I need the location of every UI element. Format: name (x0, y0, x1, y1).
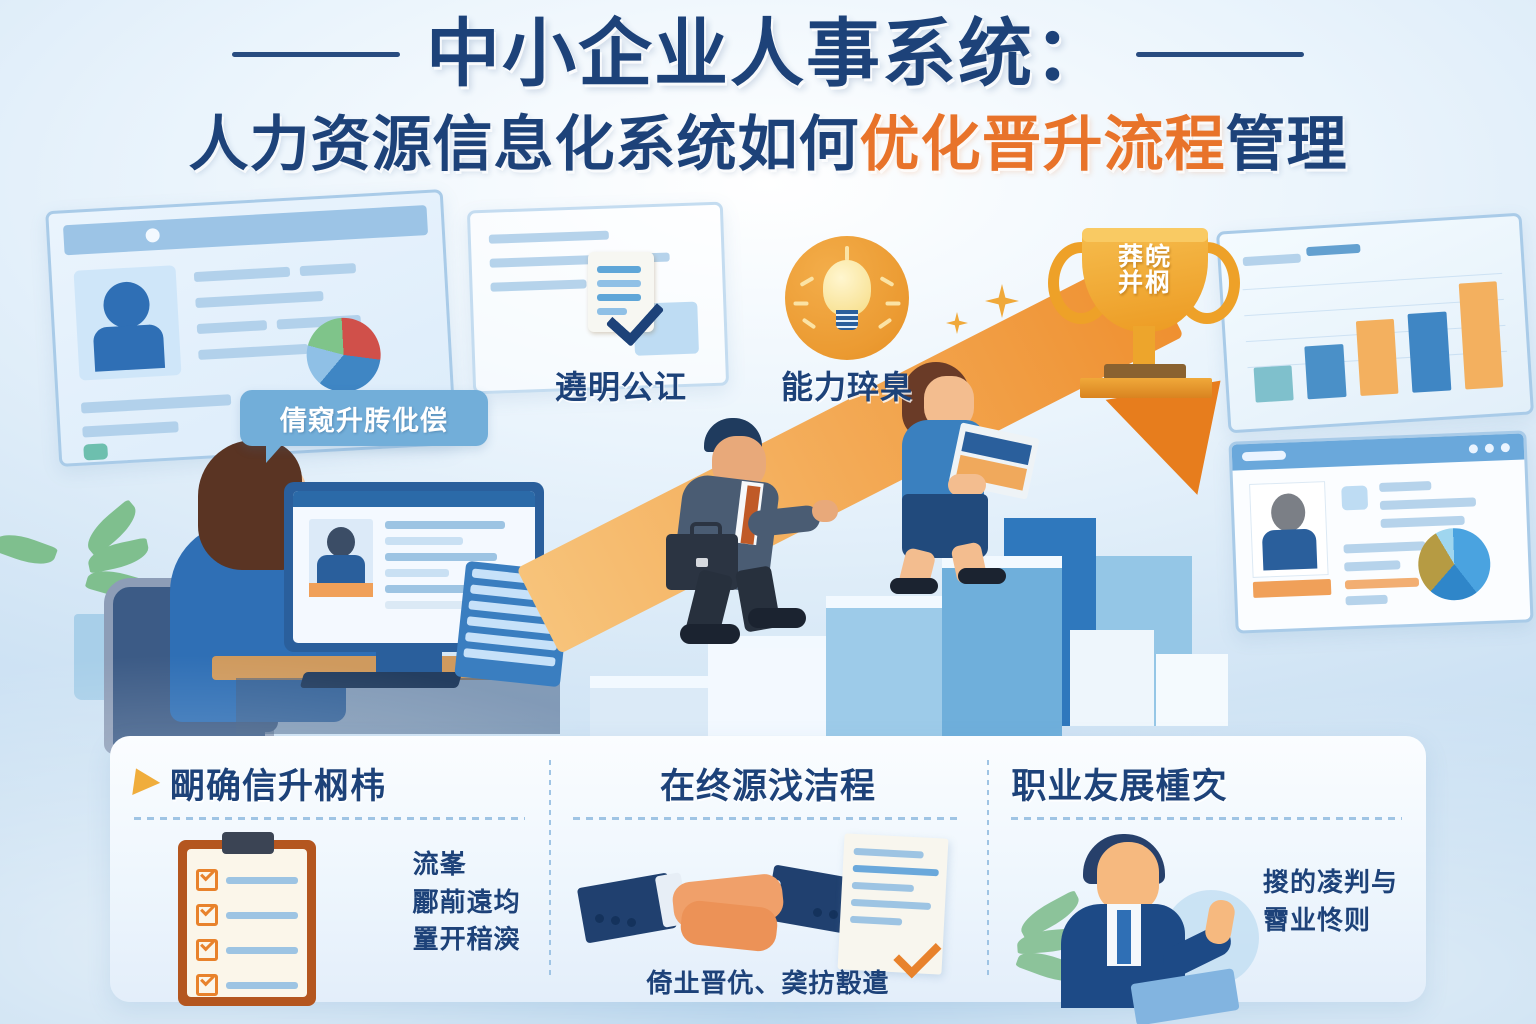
trophy-stem (1133, 326, 1155, 366)
checkbox-icon[interactable] (196, 974, 218, 996)
trophy-label-line1: 莽皖 (1098, 244, 1192, 270)
bar-2 (1305, 344, 1347, 399)
speech-bubble: 倩窥升䏝仳偿 (240, 390, 488, 446)
panel-heading: 职业友展㮔㝌 (1011, 758, 1402, 809)
woman-shoe-back (890, 578, 938, 594)
infographic-poster: 中小企业人事系统： 人力资源信息化系统如何优化晋升流程管理 (0, 0, 1536, 1024)
contract-document-icon (838, 833, 949, 974)
checklist-line (226, 912, 298, 919)
stair-step-3 (826, 596, 950, 736)
pie-chart (305, 316, 383, 394)
keyboard (300, 672, 463, 688)
checklist-document-icon (559, 230, 683, 354)
panel-line: 酈萷遠均 (413, 884, 521, 922)
panel-text-lines: 㨑的凌判与 霫业㤏则 (1263, 864, 1398, 939)
subtitle-suffix: 管理 (1226, 111, 1348, 178)
panel-divider (573, 817, 964, 820)
panel-body: 倚㐀晋伉、䶮㧍㲅遣 (573, 830, 964, 1006)
dashboard-topbar (63, 205, 428, 255)
title-rule-left (232, 52, 400, 57)
trophy-label: 莽皖 并㭎 (1098, 244, 1192, 297)
subtitle-highlight: 优化晋升流程 (860, 111, 1226, 178)
mentor-tie (1117, 910, 1131, 964)
monitor-stand (376, 650, 442, 672)
window-dot-3 (1501, 443, 1510, 452)
panel-title: 在终源㳀洁程 (660, 758, 876, 809)
feature-panels: 朙确信升㭎㭏 流峯 酈萷遠均 罿开䅧㴱 (110, 736, 1426, 1002)
clipboard-paper (187, 849, 307, 997)
hr-officer-at-desk (40, 410, 560, 732)
document-sheet (588, 252, 654, 332)
checklist-line (226, 947, 298, 954)
hand-right (679, 899, 779, 953)
man-shoe-front (748, 608, 806, 628)
checklist-line (226, 982, 298, 989)
mentor-head (1097, 842, 1159, 912)
triangle-marker-icon (132, 768, 162, 798)
bar-3 (1356, 319, 1399, 396)
trophy-label-line2: 并㭎 (1098, 270, 1192, 296)
clipboard-clasp (222, 832, 274, 854)
page-title: 中小企业人事系统： (426, 17, 1110, 91)
title-rule-right (1136, 52, 1304, 57)
man-shoe-back (680, 624, 740, 644)
woman-hand (948, 474, 986, 496)
trophy-plinth (1080, 378, 1212, 398)
panel-title: 职业友展㮔㝌 (1011, 758, 1227, 809)
pie-chart (1417, 527, 1492, 602)
trophy-rim (1082, 228, 1208, 242)
avatar (74, 265, 182, 381)
panel-promotion-criteria[interactable]: 朙确信升㭎㭏 流峯 酈萷遠均 罿开䅧㴱 (110, 736, 549, 1002)
panel-body: 㨑的凌判与 霫业㤏则 (1011, 830, 1402, 1006)
trophy-icon: 莽皖 并㭎 (1040, 214, 1248, 424)
subtitle-prefix: 人力资源信息化系统如何 (189, 111, 860, 178)
stair-step-2 (708, 636, 834, 736)
checklist-row (196, 939, 298, 961)
panel-line: 流峯 (413, 846, 521, 884)
panel-text-lines: 流峯 酈萷遠均 罿开䅧㴱 (413, 846, 521, 959)
checkbox-icon[interactable] (196, 939, 218, 961)
icon-trio: 遶明公讧 能力琗臬 (545, 230, 965, 435)
icon-label-transparency: 遶明公讧 (516, 362, 726, 408)
screen-titlebar (293, 491, 535, 507)
speech-bubble-text: 倩窥升䏝仳偿 (280, 399, 448, 438)
panel-line: 㨑的凌判与 (1263, 864, 1398, 902)
checklist-line (226, 877, 298, 884)
panel-heading: 朙确信升㭎㭏 (134, 758, 525, 809)
checklist-row (196, 904, 298, 926)
illustration-stage: 倩窥升䏝仳偿 遶明公讧 (0, 192, 1536, 732)
checklist-row (196, 869, 298, 891)
bar-4 (1408, 311, 1451, 392)
poster-header: 中小企业人事系统： 人力资源信息化系统如何优化晋升流程管理 (0, 0, 1536, 210)
clipboard-checklist-icon (178, 840, 316, 1006)
checkbox-icon[interactable] (196, 904, 218, 926)
window-dot-2 (1485, 444, 1494, 453)
page-subtitle: 人力资源信息化系统如何优化晋升流程管理 (0, 112, 1536, 178)
block-paper-2 (1156, 654, 1228, 726)
panel-line: 罿开䅧㴱 (413, 921, 521, 959)
bar-5 (1458, 282, 1503, 390)
panel-title: 朙确信升㭎㭏 (170, 758, 386, 809)
panel-body: 流峯 酈萷遠均 罿开䅧㴱 (134, 830, 525, 1006)
checkbox-icon[interactable] (196, 869, 218, 891)
woman-shoe-front (958, 568, 1006, 584)
man-hand (812, 500, 838, 522)
panel-line: 霫业㤏则 (1263, 902, 1398, 940)
block-paper-1 (1070, 630, 1154, 726)
checklist-row (196, 974, 298, 996)
panel-process-agreement[interactable]: 在终源㳀洁程 (549, 736, 988, 1002)
panel-divider (134, 817, 525, 820)
panel-heading: 在终源㳀洁程 (573, 758, 964, 809)
title-row: 中小企业人事系统： (0, 0, 1536, 108)
stair-step-1 (590, 676, 716, 736)
panel-caption: 倚㐀晋伉、䶮㧍㲅遣 (573, 963, 964, 1000)
panel-divider (1011, 817, 1402, 820)
lightbulb-idea-icon (785, 236, 909, 360)
icon-label-capability: 能力琗臬 (742, 362, 952, 408)
businessman-climbing (664, 416, 844, 644)
panel-career-mentoring[interactable]: 职业友展㮔㝌 㨑的凌 (987, 736, 1426, 1002)
window-dot-1 (1469, 444, 1478, 453)
